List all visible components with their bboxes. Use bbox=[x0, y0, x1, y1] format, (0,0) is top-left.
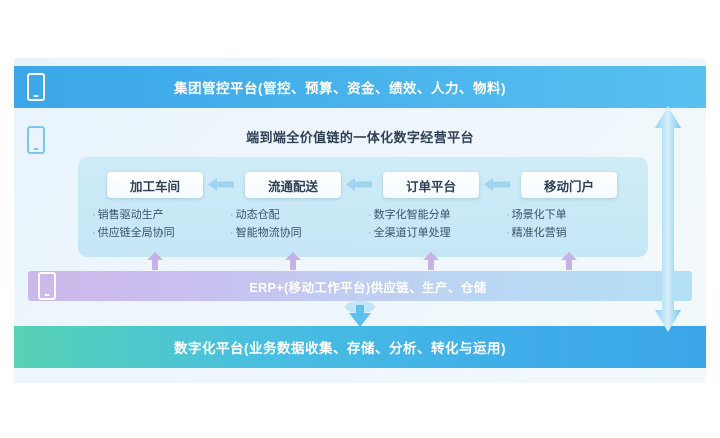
bullet-marker: · bbox=[368, 227, 372, 239]
erp-band-label: ERP+(移动工作平台)供应链、生产、仓储 bbox=[28, 277, 692, 296]
chain-bullets-distribution: ·动态仓配 ·智能物流协同 bbox=[230, 206, 360, 242]
bullet-marker: · bbox=[92, 227, 96, 239]
mobile-phone-icon bbox=[27, 126, 45, 154]
arrow-up-icon bbox=[285, 252, 301, 270]
top-band: 集团管控平台(管控、预算、资金、绩效、人力、物料) bbox=[14, 66, 706, 108]
arrow-up-icon bbox=[423, 252, 439, 270]
arrow-left-icon bbox=[484, 178, 510, 191]
arrow-left-icon bbox=[208, 178, 234, 191]
chain-bullets-mobile-portal: ·场景化下单 ·精准化营销 bbox=[506, 206, 636, 242]
bottom-band: 数字化平台(业务数据收集、存储、分析、转化与运用) bbox=[14, 326, 706, 368]
bullet-marker: · bbox=[230, 209, 234, 221]
bullet-text: 精准化营销 bbox=[512, 227, 567, 239]
mobile-phone-icon bbox=[27, 73, 45, 101]
arrow-up-icon bbox=[561, 252, 577, 270]
bullet-marker: · bbox=[230, 227, 234, 239]
chain-bullets-order-platform: ·数字化智能分单 ·全渠道订单处理 bbox=[368, 206, 498, 242]
bar-chart-growth-icon bbox=[0, 0, 30, 28]
double-arrow-vertical-icon bbox=[655, 106, 681, 332]
erp-band: ERP+(移动工作平台)供应链、生产、仓储 bbox=[28, 271, 692, 301]
chain-card-mobile-portal[interactable]: 移动门户 bbox=[521, 172, 617, 198]
bullet-marker: · bbox=[506, 227, 510, 239]
mobile-phone-icon bbox=[38, 272, 56, 300]
bullet-marker: · bbox=[92, 209, 96, 221]
bullet-text: 销售驱动生产 bbox=[98, 209, 164, 221]
chain-card-order-platform[interactable]: 订单平台 bbox=[383, 172, 479, 198]
chain-card-distribution[interactable]: 流通配送 bbox=[245, 172, 341, 198]
bottom-band-label: 数字化平台(业务数据收集、存储、分析、转化与运用) bbox=[14, 337, 706, 357]
middle-heading: 端到端全价值链的一体化数字经营平台 bbox=[14, 127, 706, 146]
arrow-down-icon bbox=[345, 301, 375, 327]
bullet-text: 全渠道订单处理 bbox=[374, 227, 451, 239]
bullet-marker: · bbox=[506, 209, 510, 221]
bullet-marker: · bbox=[368, 209, 372, 221]
arrow-left-icon bbox=[346, 178, 372, 191]
diagram-canvas: 集团管控平台(管控、预算、资金、绩效、人力、物料) 端到端全价值链的一体化数字经… bbox=[0, 0, 720, 438]
bullet-text: 供应链全局协同 bbox=[98, 227, 175, 239]
bullet-text: 数字化智能分单 bbox=[374, 209, 451, 221]
chain-bullets-processing-workshop: ·销售驱动生产 ·供应链全局协同 bbox=[92, 206, 222, 242]
bullet-text: 场景化下单 bbox=[512, 209, 567, 221]
bullet-text: 动态仓配 bbox=[236, 209, 280, 221]
arrow-up-icon bbox=[147, 252, 163, 270]
top-band-label: 集团管控平台(管控、预算、资金、绩效、人力、物料) bbox=[14, 77, 706, 97]
chain-card-processing-workshop[interactable]: 加工车间 bbox=[107, 172, 203, 198]
bullet-text: 智能物流协同 bbox=[236, 227, 302, 239]
